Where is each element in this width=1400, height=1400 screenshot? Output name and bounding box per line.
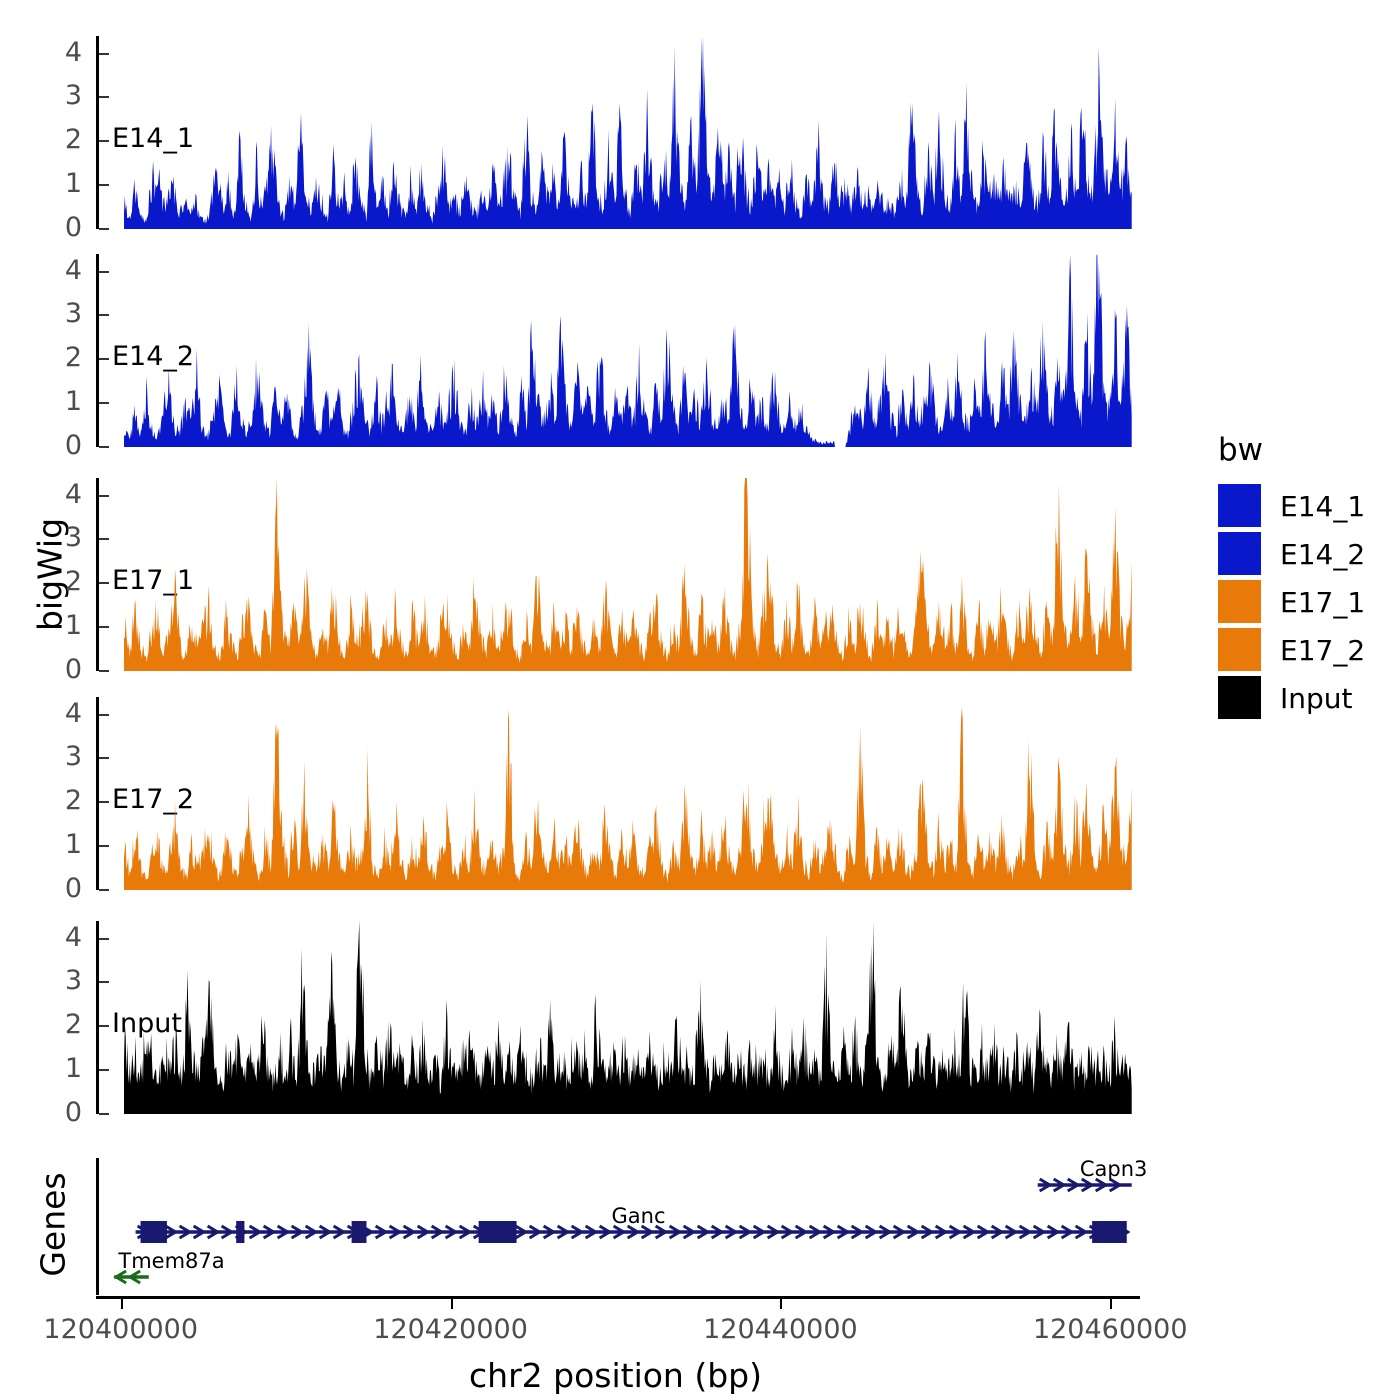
y-tick-label: 1	[22, 829, 82, 860]
x-tick-label: 120440000	[670, 1314, 890, 1345]
genes-axis-line	[96, 1158, 99, 1295]
legend-label-e14_1[interactable]: E14_1	[1280, 490, 1365, 523]
x-tick	[121, 1299, 123, 1309]
signal-track-e17_1	[96, 478, 1145, 677]
y-tick-label: 3	[22, 522, 82, 553]
legend-label-e17_1[interactable]: E17_1	[1280, 586, 1365, 619]
gene-label-capn3: Capn3	[1080, 1157, 1148, 1181]
y-tick-label: 4	[22, 922, 82, 953]
y-tick-label: 3	[22, 741, 82, 772]
legend-swatch-e14_1[interactable]	[1218, 484, 1261, 527]
y-tick-label: 2	[22, 566, 82, 597]
signal-track-input	[96, 921, 1145, 1120]
signal-track-e14_2	[96, 254, 1145, 453]
y-tick-label: 2	[22, 1009, 82, 1040]
gene-label-ganc: Ganc	[612, 1204, 666, 1228]
y-tick-label: 0	[22, 873, 82, 904]
y-tick-label: 4	[22, 37, 82, 68]
signal-track-e17_2	[96, 697, 1145, 896]
y-tick-label: 3	[22, 80, 82, 111]
y-tick-label: 1	[22, 610, 82, 641]
legend-swatch-e17_2[interactable]	[1218, 628, 1261, 671]
legend-label-e14_2[interactable]: E14_2	[1280, 538, 1365, 571]
y-tick-label: 4	[22, 698, 82, 729]
y-tick-label: 2	[22, 124, 82, 155]
x-tick	[1110, 1299, 1112, 1309]
legend-swatch-e14_2[interactable]	[1218, 532, 1261, 575]
x-tick-label: 120460000	[1000, 1314, 1220, 1345]
y-tick-label: 0	[22, 430, 82, 461]
y-tick-label: 0	[22, 654, 82, 685]
y-tick-label: 0	[22, 1097, 82, 1128]
x-tick	[780, 1299, 782, 1309]
gene-label-tmem87a: Tmem87a	[118, 1249, 224, 1273]
x-tick-label: 120420000	[341, 1314, 561, 1345]
y-tick-label: 1	[22, 1053, 82, 1084]
x-tick	[451, 1299, 453, 1309]
y-tick-label: 2	[22, 342, 82, 373]
y-tick-label: 2	[22, 785, 82, 816]
legend-label-input[interactable]: Input	[1280, 682, 1353, 715]
x-tick-label: 120400000	[11, 1314, 231, 1345]
y-tick-label: 1	[22, 168, 82, 199]
y-tick-label: 1	[22, 386, 82, 417]
y-tick-label: 4	[22, 479, 82, 510]
x-axis-line	[96, 1296, 1140, 1299]
y-tick-label: 3	[22, 298, 82, 329]
y-tick-label: 3	[22, 965, 82, 996]
legend-label-e17_2[interactable]: E17_2	[1280, 634, 1365, 667]
y-axis-label-genes: Genes	[34, 1150, 73, 1300]
signal-track-e14_1	[96, 36, 1145, 235]
legend-title: bw	[1218, 432, 1263, 468]
legend-swatch-e17_1[interactable]	[1218, 580, 1261, 623]
x-axis-title: chr2 position (bp)	[96, 1356, 1135, 1395]
y-tick-label: 0	[22, 212, 82, 243]
legend-swatch-input[interactable]	[1218, 676, 1261, 719]
y-tick-label: 4	[22, 255, 82, 286]
